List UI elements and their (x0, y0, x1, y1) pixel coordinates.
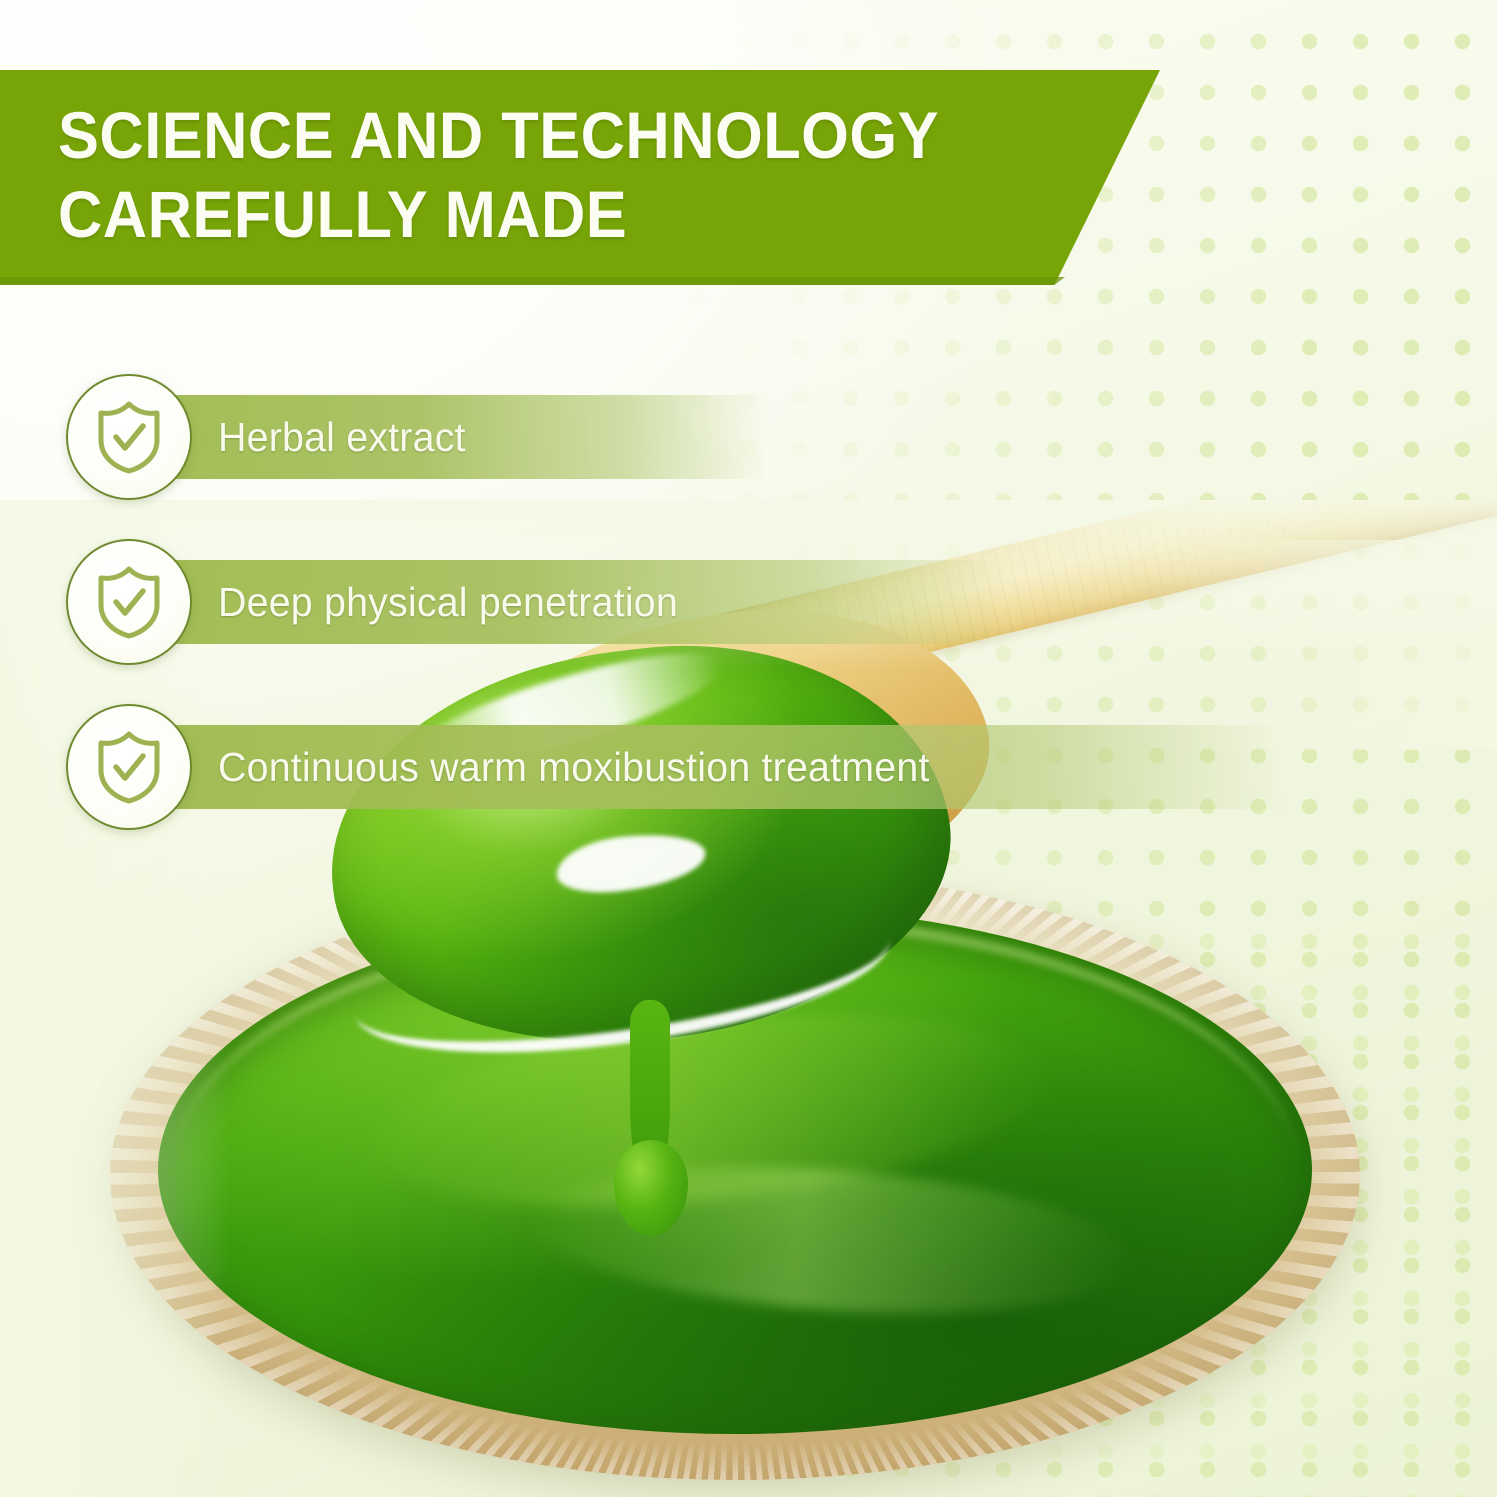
feature-label-1: Herbal extract (218, 414, 466, 461)
feature-row-3: Continuous warm moxibustion treatment (66, 705, 959, 829)
feature-row-2: Deep physical penetration (66, 540, 697, 664)
feature-label-3: Continuous warm moxibustion treatment (218, 744, 930, 791)
feature-label-2: Deep physical penetration (218, 579, 678, 626)
shield-check-icon (66, 704, 192, 830)
product-feature-poster: SCIENCE AND TECHNOLOGY CAREFULLY MADE He… (0, 0, 1497, 1497)
feature-row-1: Herbal extract (66, 375, 476, 499)
header-banner-underline (0, 277, 1065, 285)
shield-check-icon (66, 539, 192, 665)
page-title: SCIENCE AND TECHNOLOGY CAREFULLY MADE (58, 96, 1044, 254)
shield-check-icon (66, 374, 192, 500)
